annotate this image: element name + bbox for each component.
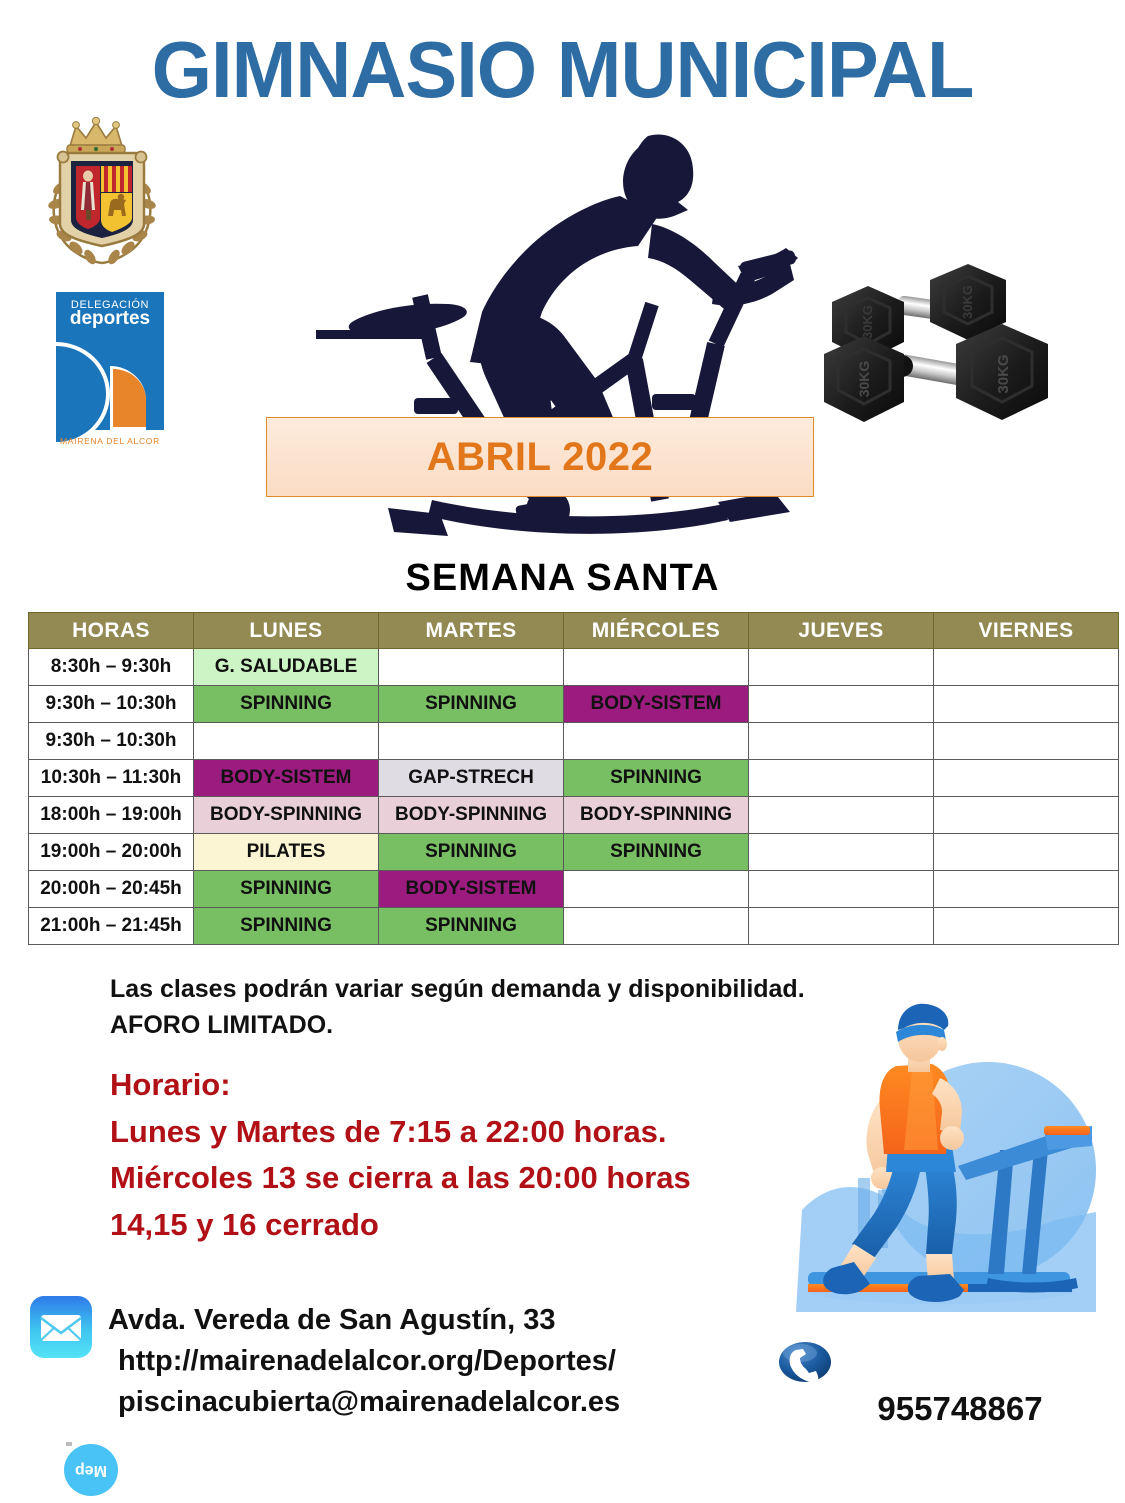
coat-of-arms-icon (36, 112, 168, 270)
contact-website[interactable]: http://mairenadelalcor.org/Deportes/ (108, 1341, 808, 1382)
schedule-cell: SPINNING (379, 834, 564, 871)
schedule-cell (934, 723, 1119, 760)
schedule-cell (749, 797, 934, 834)
column-header-miercoles: MIÉRCOLES (564, 613, 749, 649)
schedule-cell: BODY-SISTEM (194, 760, 379, 797)
column-header-lunes: LUNES (194, 613, 379, 649)
row-hours: 20:00h – 20:45h (29, 871, 194, 908)
contact-address: Avda. Vereda de San Agustín, 33 (108, 1300, 808, 1341)
horario-heading: Horario: (110, 1062, 870, 1109)
table-row: 10:30h – 11:30hBODY-SISTEMGAP-STRECHSPIN… (29, 760, 1119, 797)
schedule-cell: BODY-SPINNING (379, 797, 564, 834)
schedule-cell (934, 686, 1119, 723)
schedule-cell (749, 871, 934, 908)
row-hours: 8:30h – 9:30h (29, 649, 194, 686)
schedule-cell (749, 649, 934, 686)
schedule-cell: SPINNING (194, 871, 379, 908)
schedule-cell (749, 760, 934, 797)
schedule-cell (564, 723, 749, 760)
schedule-cell: BODY-SPINNING (194, 797, 379, 834)
schedule-cell: SPINNING (194, 908, 379, 945)
deportes-logo-footer: MAIRENA DEL ALCOR (60, 436, 160, 446)
row-hours: 9:30h – 10:30h (29, 686, 194, 723)
month-banner: ABRIL 2022 (266, 417, 814, 497)
schedule-cell: SPINNING (379, 908, 564, 945)
row-hours: 18:00h – 19:00h (29, 797, 194, 834)
column-header-viernes: VIERNES (934, 613, 1119, 649)
row-hours: 9:30h – 10:30h (29, 723, 194, 760)
page-title: GIMNASIO MUNICIPAL (17, 30, 1108, 110)
month-banner-label: ABRIL 2022 (427, 435, 654, 480)
table-row: 18:00h – 19:00hBODY-SPINNINGBODY-SPINNIN… (29, 797, 1119, 834)
schedule-cell: BODY-SPINNING (564, 797, 749, 834)
schedule-cell (379, 723, 564, 760)
schedule-cell (564, 649, 749, 686)
svg-text:30KG: 30KG (960, 285, 975, 319)
schedule-cell (749, 908, 934, 945)
schedule-cell: G. SALUDABLE (194, 649, 379, 686)
schedule-cell (934, 908, 1119, 945)
schedule-cell (564, 908, 749, 945)
row-hours: 21:00h – 21:45h (29, 908, 194, 945)
table-row: 8:30h – 9:30hG. SALUDABLE (29, 649, 1119, 686)
deportes-logo: DELEGACIÓN deportes MAIRENA DEL ALCOR (56, 292, 164, 452)
schedule-cell: BODY-SISTEM (379, 871, 564, 908)
phone-icon (778, 1340, 832, 1384)
mail-icon (30, 1296, 92, 1358)
contact-block: Avda. Vereda de San Agustín, 33 http://m… (108, 1300, 808, 1424)
mep-logo: Mep (60, 1436, 122, 1498)
horario-line-1: Lunes y Martes de 7:15 a 22:00 horas. (110, 1109, 870, 1156)
deportes-logo-line2: deportes (70, 308, 150, 329)
column-header-martes: MARTES (379, 613, 564, 649)
schedule-cell (934, 649, 1119, 686)
schedule-cell (934, 871, 1119, 908)
schedule-cell (749, 834, 934, 871)
dumbbells-icon: 30KG 30KG 30KG 30KG (812, 262, 1062, 452)
schedule-cell (194, 723, 379, 760)
schedule-cell (379, 649, 564, 686)
treadmill-runner-illustration (792, 1000, 1110, 1320)
phone-number: 955748867 (830, 1390, 1090, 1428)
schedule-cell: GAP-STRECH (379, 760, 564, 797)
schedule-cell (564, 871, 749, 908)
column-header-horas: HORAS (29, 613, 194, 649)
schedule-cell (749, 723, 934, 760)
svg-text:30KG: 30KG (995, 354, 1012, 393)
svg-text:Mep: Mep (75, 1462, 107, 1479)
table-row: 19:00h – 20:00hPILATESSPINNINGSPINNING (29, 834, 1119, 871)
horario-block: Horario: Lunes y Martes de 7:15 a 22:00 … (110, 1062, 870, 1248)
schedule-cell (934, 760, 1119, 797)
row-hours: 10:30h – 11:30h (29, 760, 194, 797)
horario-line-2: Miércoles 13 se cierra a las 20:00 horas (110, 1155, 870, 1202)
section-heading: SEMANA SANTA (0, 557, 1125, 600)
schedule-cell (749, 686, 934, 723)
schedule-cell: SPINNING (564, 760, 749, 797)
horario-line-3: 14,15 y 16 cerrado (110, 1202, 870, 1249)
schedule-cell: PILATES (194, 834, 379, 871)
table-row: 21:00h – 21:45hSPINNINGSPINNING (29, 908, 1119, 945)
schedule-cell (934, 797, 1119, 834)
table-header-row: HORAS LUNES MARTES MIÉRCOLES JUEVES VIER… (29, 613, 1119, 649)
table-row: 9:30h – 10:30hSPINNINGSPINNINGBODY-SISTE… (29, 686, 1119, 723)
schedule-cell: SPINNING (194, 686, 379, 723)
row-hours: 19:00h – 20:00h (29, 834, 194, 871)
schedule-cell: SPINNING (379, 686, 564, 723)
dumbbell-weight-label: 30KG (860, 305, 875, 339)
table-row: 9:30h – 10:30h (29, 723, 1119, 760)
schedule-cell: SPINNING (564, 834, 749, 871)
contact-email[interactable]: piscinacubierta@mairenadelalcor.es (108, 1382, 808, 1423)
column-header-jueves: JUEVES (749, 613, 934, 649)
schedule-cell: BODY-SISTEM (564, 686, 749, 723)
schedule-table: HORAS LUNES MARTES MIÉRCOLES JUEVES VIER… (28, 612, 1119, 945)
schedule-cell (934, 834, 1119, 871)
table-row: 20:00h – 20:45hSPINNINGBODY-SISTEM (29, 871, 1119, 908)
svg-text:30KG: 30KG (856, 361, 872, 398)
